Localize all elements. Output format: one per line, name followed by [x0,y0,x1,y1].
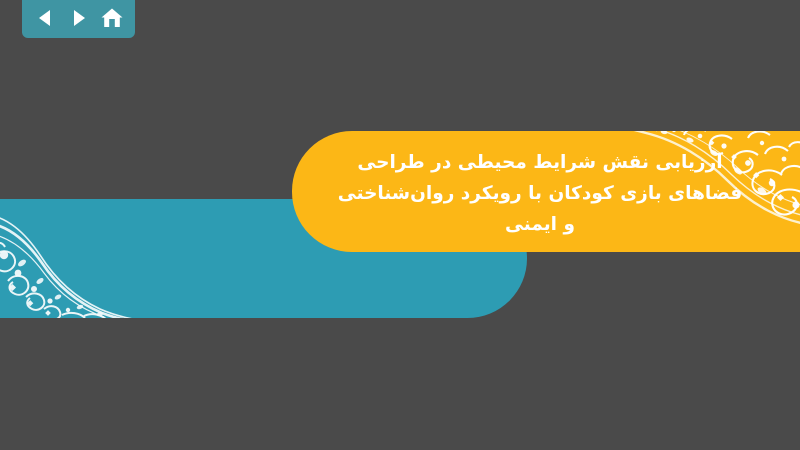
house-icon [100,7,124,29]
triangle-right-icon [69,8,89,28]
forward-button[interactable] [65,5,93,31]
back-button[interactable] [31,5,59,31]
arabesque-corner-ornament-yellow [612,131,800,230]
home-button[interactable] [98,5,126,31]
slide-navigation-bar [22,0,135,38]
triangle-left-icon [35,8,55,28]
title-accent-band [292,131,800,252]
arabesque-corner-ornament-teal [0,199,148,318]
presentation-slide: ارزیابی نقش شرایط محیطی در طراحی فضاهای … [0,0,800,450]
